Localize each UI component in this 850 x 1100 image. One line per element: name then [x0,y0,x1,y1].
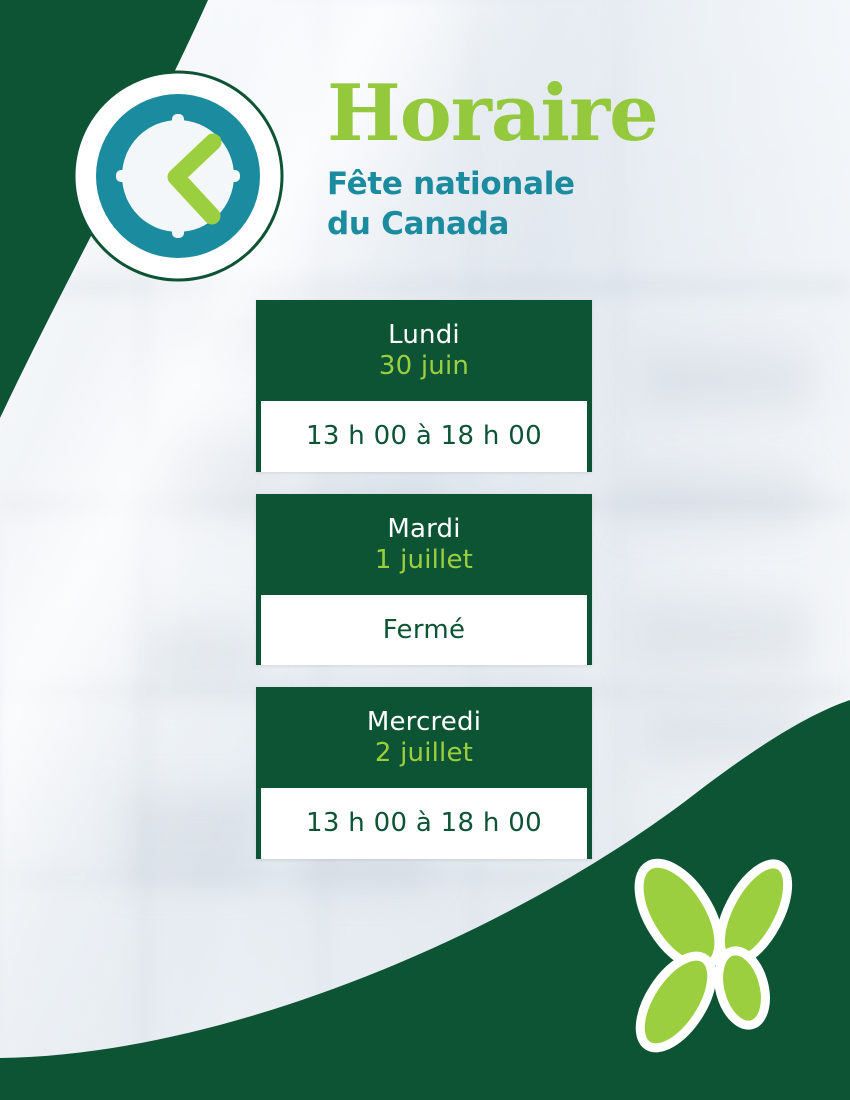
schedule-card: Mercredi 2 juillet 13 h 00 à 18 h 00 [256,687,592,859]
butterfly-logo-icon [612,852,824,1064]
schedule-card-body: 13 h 00 à 18 h 00 [261,788,587,859]
schedule-hours-label: Fermé [383,615,466,645]
schedule-day-label: Mercredi [266,707,582,737]
page-title: Horaire [327,78,757,150]
schedule-date-label: 2 juillet [266,737,582,771]
schedule-card-header: Mercredi 2 juillet [256,687,592,788]
page-subtitle: Fête nationale du Canada [327,164,757,245]
schedule-card-list: Lundi 30 juin 13 h 00 à 18 h 00 Mardi 1 … [256,300,592,864]
schedule-card-body: 13 h 00 à 18 h 00 [261,401,587,472]
schedule-poster: Horaire Fête nationale du Canada Lundi 3… [0,0,850,1100]
schedule-hours-label: 13 h 00 à 18 h 00 [306,808,542,838]
schedule-card: Lundi 30 juin 13 h 00 à 18 h 00 [256,300,592,472]
schedule-day-label: Lundi [266,320,582,350]
schedule-card-header: Lundi 30 juin [256,300,592,401]
schedule-date-label: 30 juin [266,350,582,384]
clock-icon [72,70,284,282]
schedule-card: Mardi 1 juillet Fermé [256,494,592,666]
schedule-day-label: Mardi [266,514,582,544]
schedule-hours-label: 13 h 00 à 18 h 00 [306,421,542,451]
poster-heading: Horaire Fête nationale du Canada [327,78,757,244]
schedule-card-header: Mardi 1 juillet [256,494,592,595]
schedule-card-body: Fermé [261,595,587,666]
schedule-date-label: 1 juillet [266,544,582,578]
